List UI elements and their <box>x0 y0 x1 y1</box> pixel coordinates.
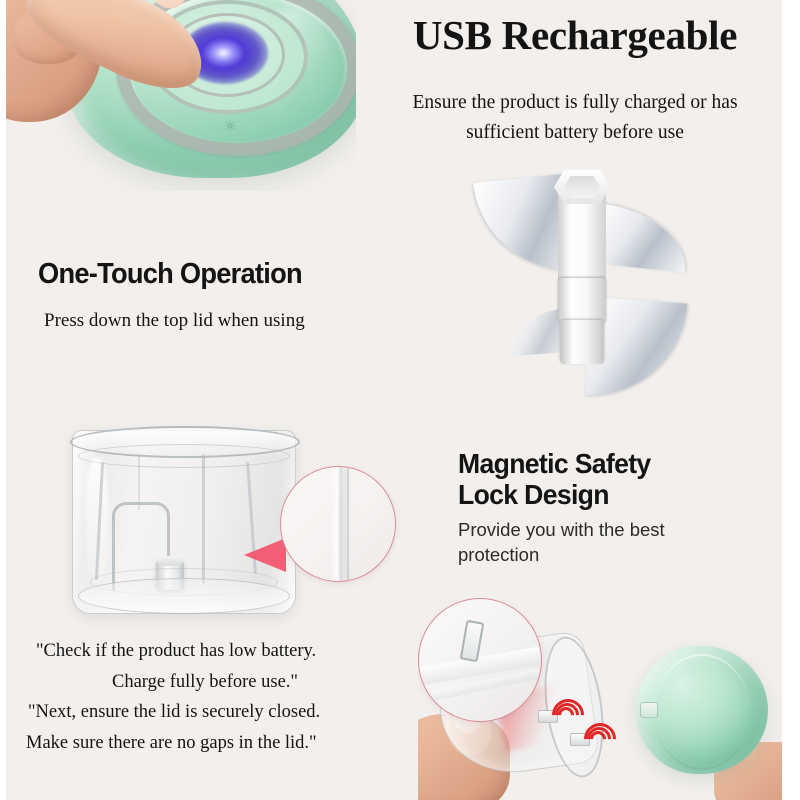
usb-section-title: USB Rechargeable <box>355 12 795 59</box>
magnetic-lock-product-photo <box>418 598 800 800</box>
one-touch-section-title: One-Touch Operation <box>38 258 376 291</box>
right-edge-crop <box>782 0 800 800</box>
bowl-product-photo <box>52 418 322 638</box>
lid-seam-band <box>654 654 750 770</box>
bowl-inner-rim <box>78 444 290 468</box>
blade-hub-middle <box>558 278 606 324</box>
magnetic-section-title: Magnetic Safety Lock Design <box>458 448 772 511</box>
one-touch-product-photo: ✴ ✴ <box>6 0 356 191</box>
usage-note-line-3: "Next, ensure the lid is securely closed… <box>20 697 390 728</box>
usage-note-line-4: Make sure there are no gaps in the lid." <box>20 728 390 759</box>
left-edge-crop <box>0 0 6 800</box>
usage-note-line-1: "Check if the product has low battery. <box>20 636 390 667</box>
usage-notes: "Check if the product has low battery. C… <box>20 636 390 759</box>
lid-side-button <box>640 702 658 718</box>
magnetic-section-subtitle: Provide you with the best protection <box>458 518 708 568</box>
bowl-drive-post-top <box>156 556 184 566</box>
blade-hub-lower <box>560 320 604 364</box>
star-decal-icon: ✴ <box>222 114 239 139</box>
lid-zoom-callout <box>418 598 542 722</box>
bowl-rib <box>202 454 205 584</box>
magnetic-title-line-1: Magnetic Safety <box>458 448 772 479</box>
blade-product-photo <box>468 160 698 400</box>
usage-note-line-2: Charge fully before use." <box>20 667 390 698</box>
blade-upper-right <box>593 203 691 272</box>
magnetic-title-line-2: Lock Design <box>458 479 772 510</box>
callout-arrow-icon <box>244 538 286 572</box>
callout-wall-detail <box>337 467 342 581</box>
usb-subtitle-line-1: Ensure the product is fully charged or h… <box>360 88 790 118</box>
usb-section-subtitle: Ensure the product is fully charged or h… <box>360 88 790 148</box>
callout-wall-edge <box>347 467 349 581</box>
hex-socket-opening <box>564 176 600 198</box>
usb-subtitle-line-2: sufficient battery before use <box>360 118 790 148</box>
bowl-zoom-callout <box>280 466 396 582</box>
pressing-hand <box>6 0 217 140</box>
product-infographic: ✴ ✴ USB Rechargeable Ensure the product … <box>0 0 800 800</box>
bowl-base <box>78 578 290 614</box>
one-touch-section-subtitle: Press down the top lid when using <box>44 310 394 332</box>
